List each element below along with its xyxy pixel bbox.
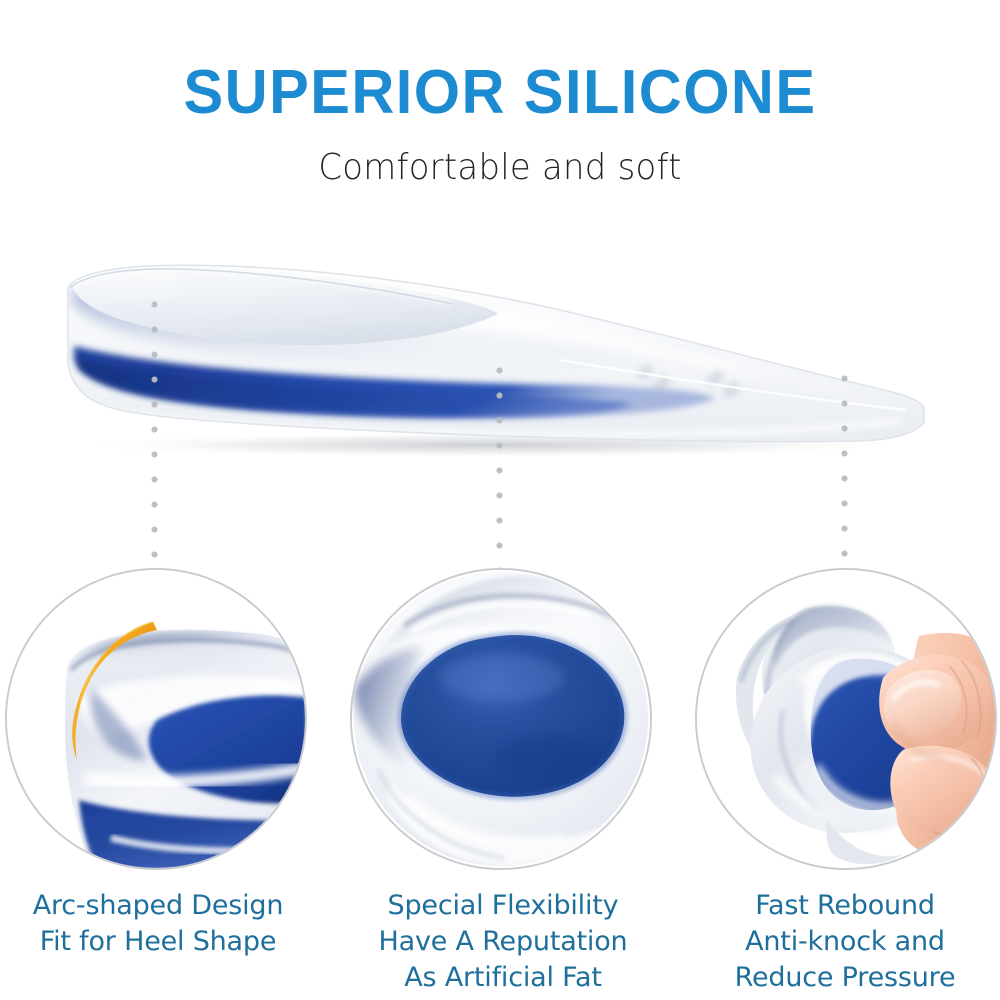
detail-circle-fast-rebound	[695, 568, 997, 870]
caption-line: As Artificial Fat	[336, 960, 670, 996]
page-title: SUPERIOR SILICONE	[20, 62, 980, 124]
caption-fast-rebound: Fast Rebound Anti-knock and Reduce Press…	[678, 888, 1000, 996]
gel-deep-shade	[494, 736, 602, 776]
detail-image-hand-squeeze	[697, 570, 995, 868]
detail-circle-arc-shaped-design	[5, 568, 307, 870]
page-subtitle: Comfortable and soft	[30, 150, 970, 186]
header: SUPERIOR SILICONE Comfortable and soft	[0, 0, 1000, 186]
caption-special-flexibility: Special Flexibility Have A Reputation As…	[336, 888, 670, 996]
leader-line-3	[841, 366, 848, 572]
leader-line-2	[496, 358, 503, 572]
caption-line: Fit for Heel Shape	[0, 924, 325, 960]
caption-arc-shaped-design: Arc-shaped Design Fit for Heel Shape	[0, 888, 325, 960]
gel-sheen	[440, 654, 564, 702]
caption-line: Fast Rebound	[678, 888, 1000, 924]
detail-image-gel-pad	[352, 570, 650, 868]
caption-line: Special Flexibility	[336, 888, 670, 924]
detail-image-arc-shape	[7, 570, 305, 868]
caption-line: Reduce Pressure	[678, 960, 1000, 996]
caption-line: Have A Reputation	[336, 924, 670, 960]
caption-line: Arc-shaped Design	[0, 888, 325, 924]
caption-line: Anti-knock and	[678, 924, 1000, 960]
leader-line-1	[151, 292, 158, 572]
detail-circle-special-flexibility	[350, 568, 652, 870]
